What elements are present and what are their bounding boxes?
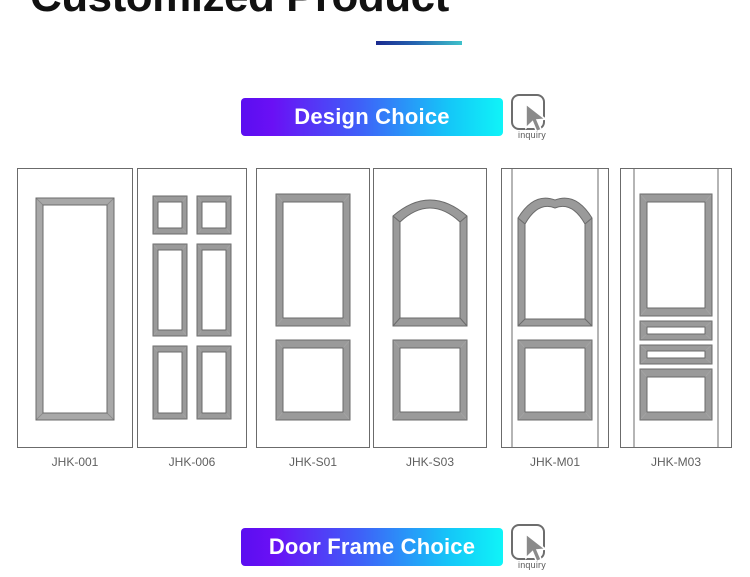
door-drawing-jhk-s03 (373, 168, 487, 448)
inquiry-label: inquiry (510, 560, 554, 570)
door-frame-choice-inquiry-button[interactable]: inquiry (511, 524, 557, 576)
door-frame-choice-button[interactable]: Door Frame Choice (241, 528, 503, 566)
design-choice-section: Design Choice inquiry (0, 98, 750, 140)
door-frame-choice-section: Door Frame Choice inquiry (0, 528, 750, 570)
inquiry-label: inquiry (510, 130, 554, 140)
page-title: Customized Product (30, 0, 449, 22)
door-drawing-jhk-m03 (620, 168, 732, 448)
cursor-arrow-icon (523, 533, 549, 563)
design-choice-inquiry-button[interactable]: inquiry (511, 94, 557, 146)
door-design-gallery: JHK-001 (0, 168, 750, 478)
door-drawing-jhk-001 (17, 168, 133, 448)
door-drawing-jhk-s01 (256, 168, 370, 448)
door-code-label: JHK-S03 (367, 455, 493, 469)
door-code-label: JHK-M03 (614, 455, 738, 469)
door-code-label: JHK-S01 (250, 455, 376, 469)
design-choice-button[interactable]: Design Choice (241, 98, 503, 136)
title-underline-accent (376, 41, 462, 45)
door-drawing-jhk-006 (137, 168, 247, 448)
cursor-arrow-icon (523, 103, 549, 133)
door-code-label: JHK-001 (11, 455, 139, 469)
door-drawing-jhk-m01 (501, 168, 609, 448)
door-code-label: JHK-M01 (495, 455, 615, 469)
door-code-label: JHK-006 (131, 455, 253, 469)
